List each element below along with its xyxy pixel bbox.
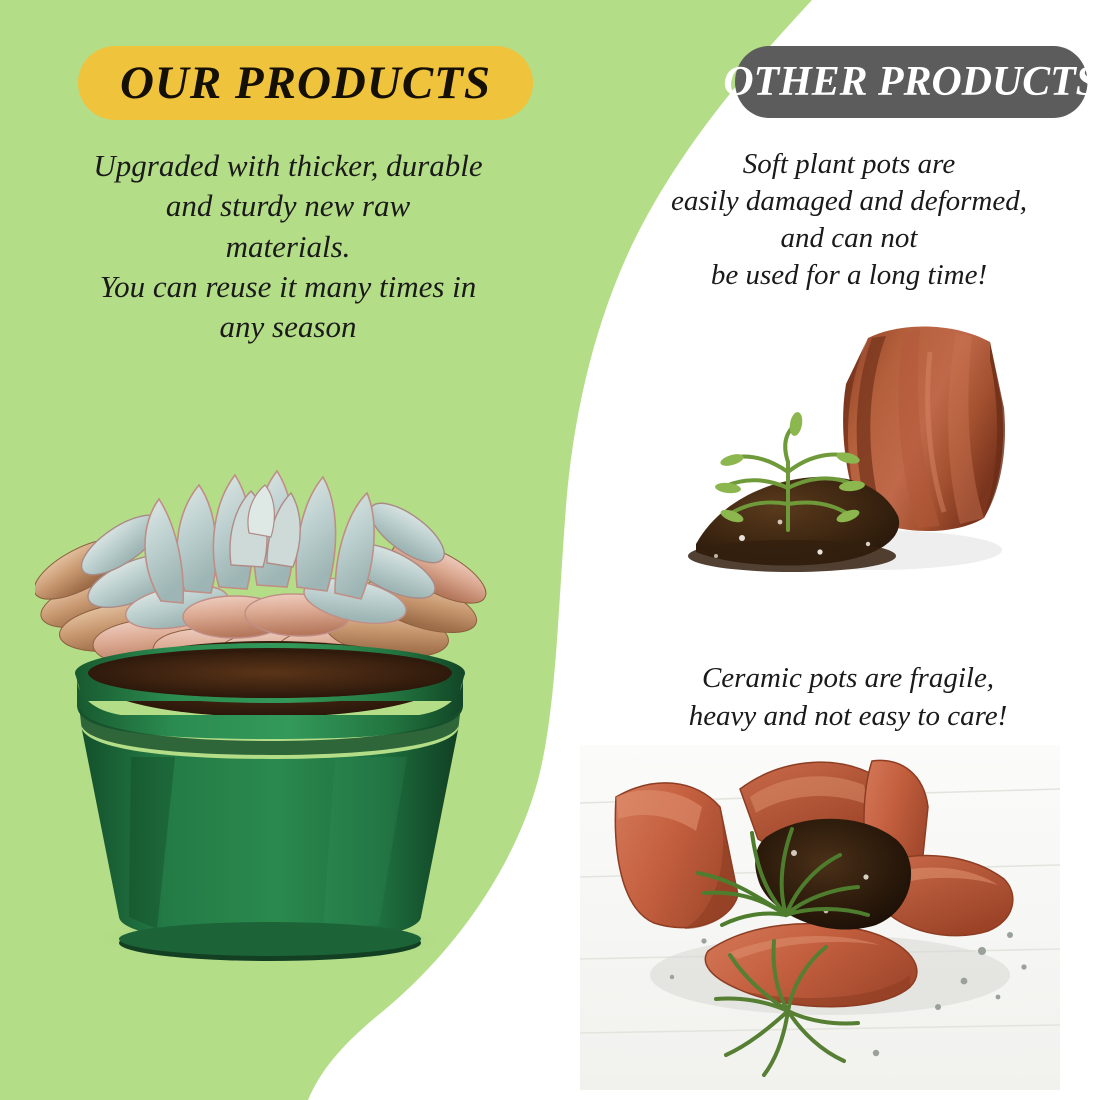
ceramic-pots-line-1: Ceramic pots are fragile, — [628, 660, 1068, 698]
soft-pots-line-1: Soft plant pots are — [625, 146, 1073, 183]
our-products-line-2: and sturdy new raw — [42, 186, 534, 226]
ceramic-pots-caption: Ceramic pots are fragile, heavy and not … — [628, 660, 1068, 735]
our-products-line-4: You can reuse it many times in — [42, 267, 534, 307]
crushed-plastic-pot-image — [672, 312, 1022, 604]
ceramic-pots-line-2: heavy and not easy to care! — [628, 698, 1068, 736]
product-comparison-infographic: OUR PRODUCTS Upgraded with thicker, dura… — [0, 0, 1095, 1100]
our-products-badge: OUR PRODUCTS — [78, 46, 533, 120]
broken-ceramic-pot-image — [580, 745, 1060, 1090]
soft-pots-caption: Soft plant pots are easily damaged and d… — [625, 146, 1073, 294]
rosette-inner-ring — [145, 471, 374, 603]
other-products-badge: OTHER PRODUCTS — [735, 46, 1088, 118]
succulent-in-green-pot-image — [35, 405, 505, 965]
soft-pots-line-4: be used for a long time! — [625, 257, 1073, 294]
green-plastic-pot — [75, 643, 465, 961]
our-products-line-5: any season — [42, 307, 534, 347]
our-products-line-3: materials. — [42, 227, 534, 267]
our-products-badge-label: OUR PRODUCTS — [120, 56, 491, 110]
our-products-description: Upgraded with thicker, durable and sturd… — [42, 146, 534, 347]
soft-pots-line-3: and can not — [625, 220, 1073, 257]
our-products-line-1: Upgraded with thicker, durable — [42, 146, 534, 186]
other-products-badge-label: OTHER PRODUCTS — [723, 58, 1095, 106]
soft-pots-line-2: easily damaged and deformed, — [625, 183, 1073, 220]
